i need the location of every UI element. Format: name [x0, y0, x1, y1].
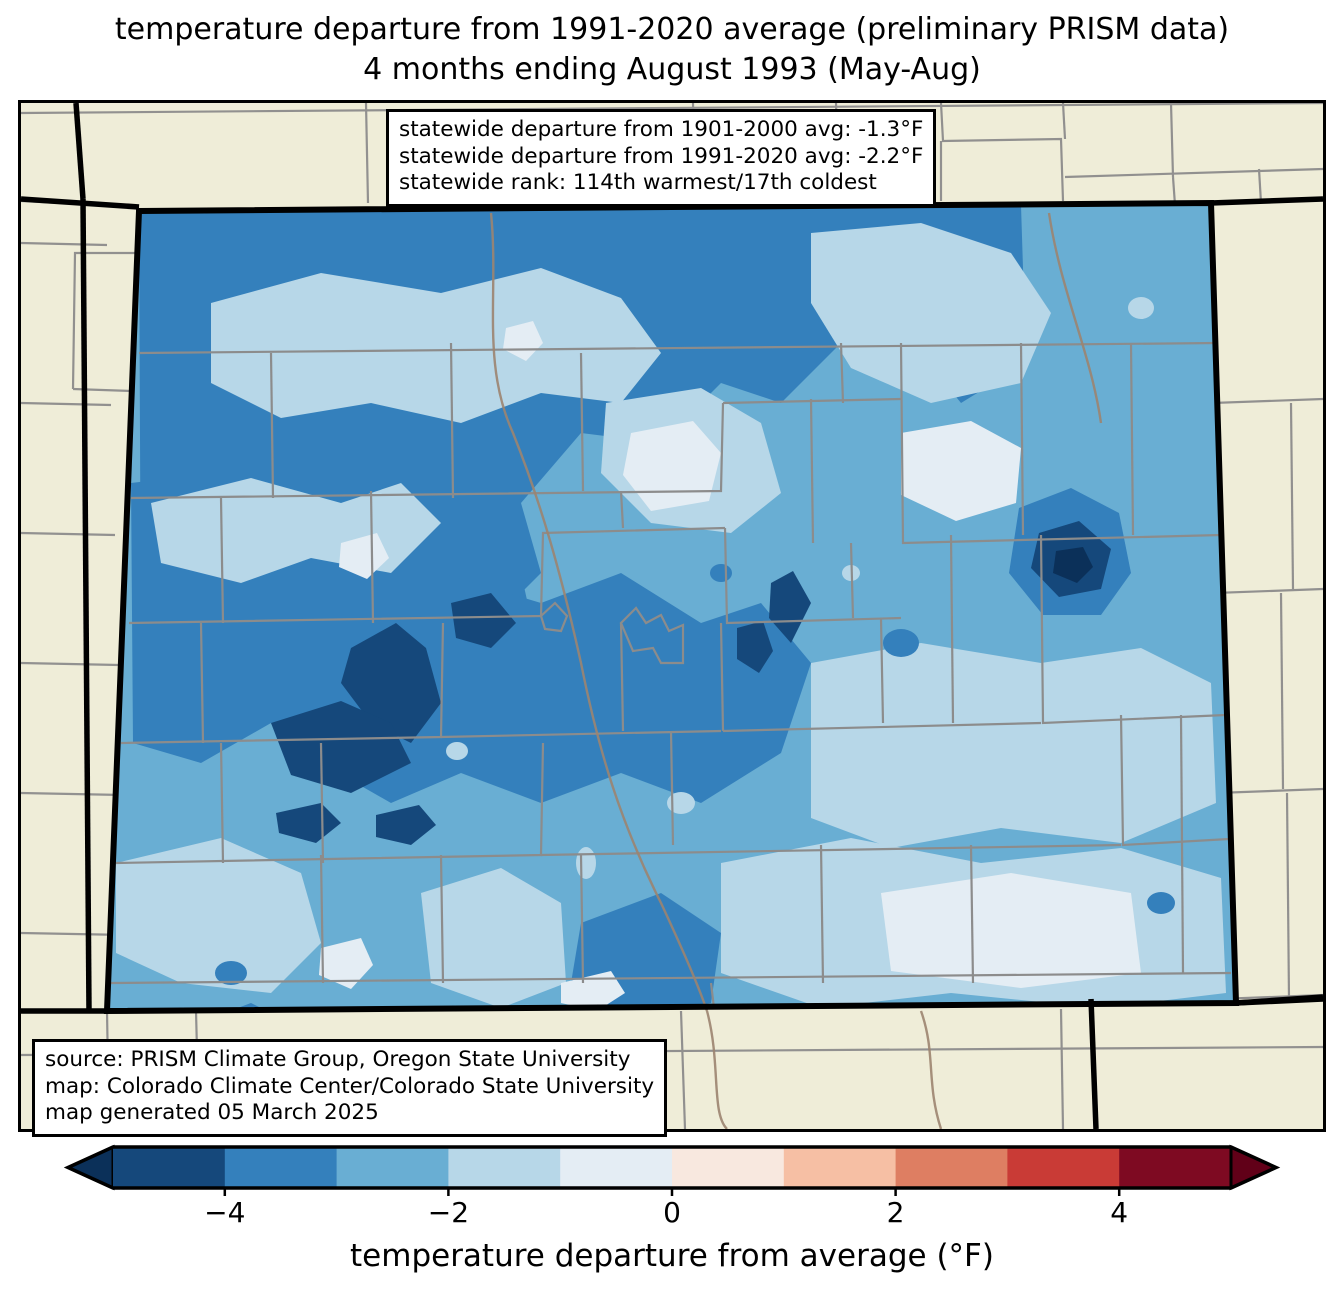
colorbar-band-6: [784, 1147, 896, 1188]
colorbar-band-5: [672, 1147, 784, 1188]
colorbar-tick-label-2: 0: [663, 1196, 681, 1230]
colorbar-band-1: [225, 1147, 337, 1188]
map-generated-line: map generated 05 March 2025: [45, 1100, 654, 1127]
stats-departure-1901-2000: statewide departure from 1901-2000 avg: …: [399, 117, 923, 144]
colorbar-band-0: [113, 1147, 225, 1188]
colorbar-region: −4−2024 temperature departure from avera…: [0, 1140, 1344, 1299]
source-line: source: PRISM Climate Group, Oregon Stat…: [45, 1047, 654, 1074]
colorbar-tick-labels: −4−2024: [0, 1196, 1344, 1236]
statewide-stats-box: statewide departure from 1901-2000 avg: …: [386, 109, 936, 207]
colorbar-band-2: [337, 1147, 449, 1188]
contour-band--2to-1-east: [811, 643, 1216, 848]
colorbar-bands: [68, 1147, 1276, 1188]
colorado-temperature-map: [21, 103, 1323, 1129]
colorbar-tick-label-3: 2: [887, 1196, 905, 1230]
colorbar-band-8: [1007, 1147, 1119, 1188]
title-line-1: temperature departure from 1991-2020 ave…: [0, 10, 1344, 50]
colorbar-axis-label: temperature departure from average (°F): [0, 1236, 1344, 1276]
page-title: temperature departure from 1991-2020 ave…: [0, 10, 1344, 90]
stats-departure-1991-2020: statewide departure from 1991-2020 avg: …: [399, 144, 923, 171]
colorbar-tick-label-1: −2: [428, 1196, 469, 1230]
map-credit-line: map: Colorado Climate Center/Colorado St…: [45, 1074, 654, 1101]
colorbar-over-arrow: [1231, 1147, 1276, 1188]
colorbar-tick-label-0: −4: [204, 1196, 245, 1230]
colorbar[interactable]: [0, 1140, 1344, 1196]
colorbar-under-arrow: [68, 1147, 113, 1188]
stats-rank: statewide rank: 114th warmest/17th colde…: [399, 170, 923, 197]
colorbar-tick-label-4: 4: [1110, 1196, 1128, 1230]
climate-map-page: temperature departure from 1991-2020 ave…: [0, 0, 1344, 1299]
temperature-contour-layer: [81, 183, 1281, 1103]
colorbar-band-9: [1119, 1147, 1231, 1188]
source-credit-box: source: PRISM Climate Group, Oregon Stat…: [32, 1039, 667, 1137]
map-canvas: [18, 100, 1326, 1132]
colorbar-band-7: [896, 1147, 1008, 1188]
colorbar-band-3: [448, 1147, 560, 1188]
contour-band--1to0-se: [881, 873, 1141, 988]
title-line-2: 4 months ending August 1993 (May-Aug): [0, 50, 1344, 90]
colorbar-band-4: [560, 1147, 672, 1188]
